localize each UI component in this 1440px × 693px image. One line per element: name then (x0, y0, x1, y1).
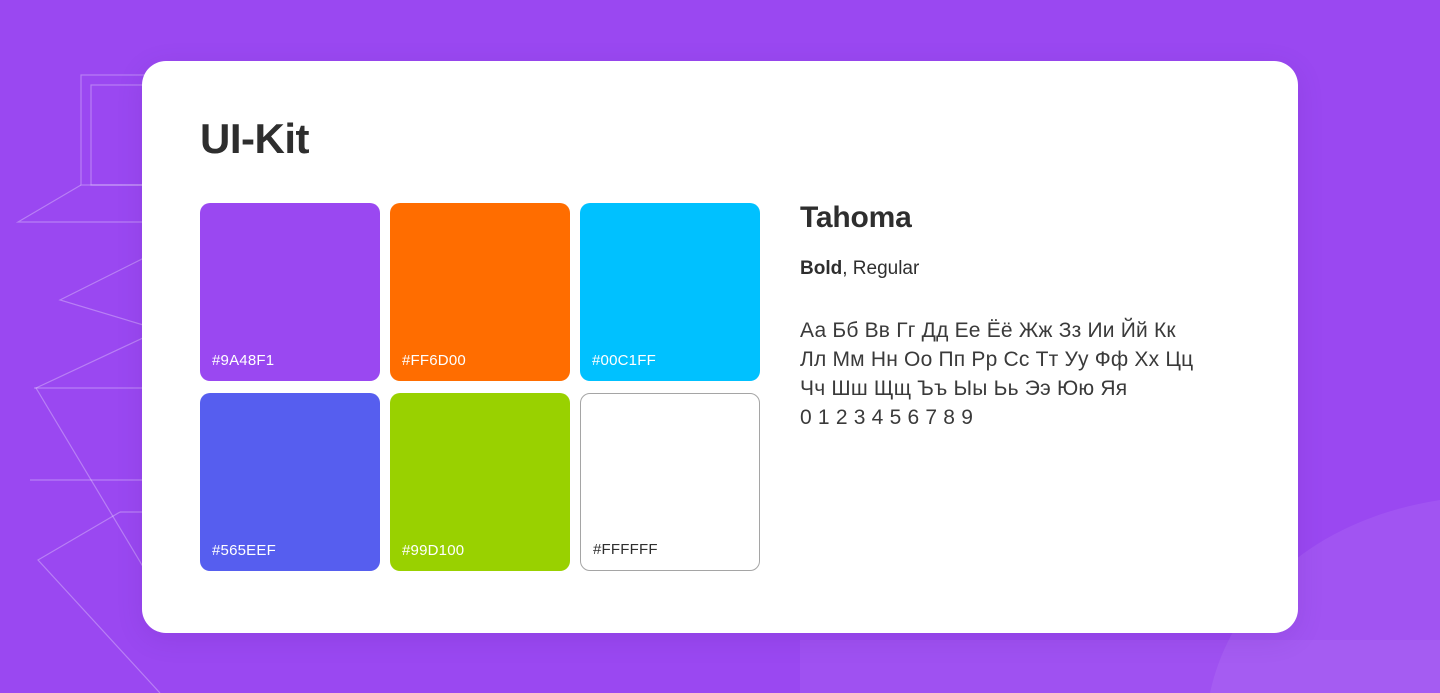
specimen-line: Аа Бб Вв Гг Дд Ее Ёё Жж Зз Ии Йй Кк (800, 316, 1260, 345)
color-swatch[interactable]: #FFFFFF (580, 393, 760, 571)
decor-band-bottom (800, 640, 1440, 693)
font-weights-line: Bold, Regular (800, 259, 1260, 278)
color-palette: #9A48F1 #FF6D00 #00C1FF #565EEF #99D100 … (200, 203, 762, 571)
color-swatch-label: #00C1FF (592, 352, 656, 370)
font-family-name: Tahoma (800, 203, 1260, 233)
font-specimen: Аа Бб Вв Гг Дд Ее Ёё Жж Зз Ии Йй Кк Лл М… (800, 316, 1260, 432)
color-swatch[interactable]: #FF6D00 (390, 203, 570, 381)
color-swatch[interactable]: #99D100 (390, 393, 570, 571)
color-swatch[interactable]: #9A48F1 (200, 203, 380, 381)
typography-section: Tahoma Bold, Regular Аа Бб Вв Гг Дд Ее Ё… (800, 203, 1260, 432)
font-weight-bold-label: Bold (800, 258, 842, 279)
poster-canvas: UI-Kit #9A48F1 #FF6D00 #00C1FF #565EEF # (0, 0, 1440, 693)
color-swatch-label: #9A48F1 (212, 352, 274, 370)
specimen-line: 0 1 2 3 4 5 6 7 8 9 (800, 403, 1260, 432)
specimen-line: Лл Мм Нн Оо Пп Рр Сс Тт Уу Фф Хх Цц (800, 345, 1260, 374)
color-swatch[interactable]: #00C1FF (580, 203, 760, 381)
specimen-line: Чч Шш Щщ Ъъ Ыы Ьь Ээ Юю Яя (800, 374, 1260, 403)
color-swatch-label: #FF6D00 (402, 352, 466, 370)
ui-kit-card: UI-Kit #9A48F1 #FF6D00 #00C1FF #565EEF # (142, 61, 1298, 633)
color-swatch[interactable]: #565EEF (200, 393, 380, 571)
page-title: UI-Kit (200, 118, 309, 160)
color-swatch-label: #FFFFFF (593, 541, 658, 559)
font-weight-regular-label: , Regular (842, 258, 919, 279)
color-swatch-label: #99D100 (402, 542, 464, 560)
palette-row-bottom: #565EEF #99D100 #FFFFFF (200, 393, 762, 571)
palette-row-top: #9A48F1 #FF6D00 #00C1FF (200, 203, 762, 381)
color-swatch-label: #565EEF (212, 542, 276, 560)
